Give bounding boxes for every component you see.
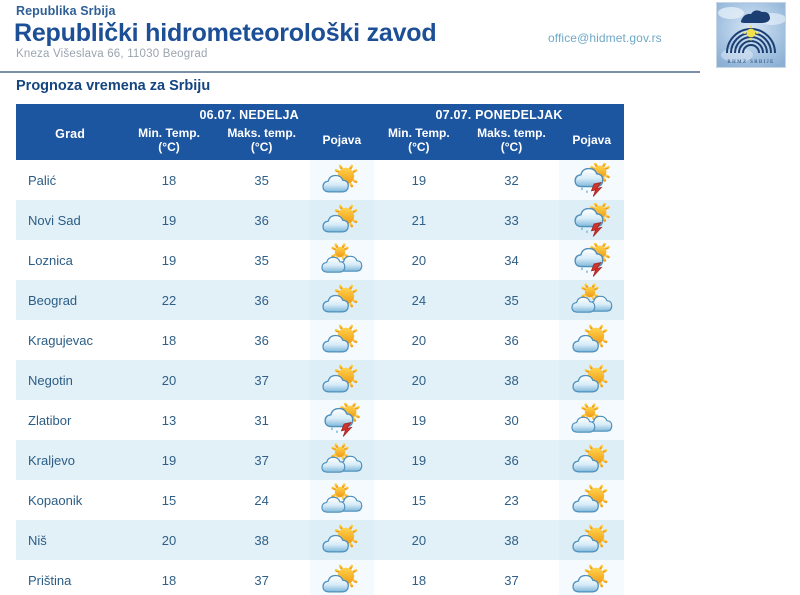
cell-max-temp-day1: 35	[214, 160, 310, 200]
cell-max-temp-day1: 31	[214, 400, 310, 440]
contact-email[interactable]: office@hidmet.gov.rs	[548, 31, 662, 45]
cell-phenomenon-day1	[310, 440, 375, 480]
label-max-temp-day2: Maks. temp.	[477, 126, 546, 140]
page-title: Prognoza vremena za Srbiju	[16, 78, 210, 94]
cell-min-temp-day2: 20	[374, 320, 464, 360]
cell-max-temp-day2: 38	[464, 360, 560, 400]
table-row: Kragujevac18362036	[16, 320, 624, 360]
cell-min-temp-day1: 18	[124, 160, 214, 200]
cell-phenomenon-day1	[310, 560, 375, 595]
cell-min-temp-day2: 18	[374, 560, 464, 595]
cell-phenomenon-day1	[310, 280, 375, 320]
cell-max-temp-day2: 32	[464, 160, 560, 200]
sun-cloud-icon	[570, 451, 614, 466]
organization-address: Kneza Višeslava 66, 11030 Beograd	[16, 48, 208, 60]
sun-cloud-icon	[320, 211, 364, 226]
column-header-min-day2: Min. Temp. (°C)	[374, 123, 464, 160]
cell-city: Novi Sad	[16, 200, 124, 240]
table-row: Priština18371837	[16, 560, 624, 595]
cell-min-temp-day2: 21	[374, 200, 464, 240]
cell-min-temp-day2: 20	[374, 520, 464, 560]
unit-celsius-max-day1: (°C)	[214, 140, 310, 154]
organization-country: Republika Srbija	[16, 4, 116, 18]
cell-city: Priština	[16, 560, 124, 595]
label-min-temp-day1: Min. Temp.	[138, 126, 200, 140]
sun-cloud-icon	[320, 371, 364, 386]
thunderstorm-icon	[570, 171, 614, 186]
cell-min-temp-day2: 19	[374, 160, 464, 200]
cell-min-temp-day1: 20	[124, 360, 214, 400]
cell-min-temp-day1: 19	[124, 200, 214, 240]
day-header-1: 06.07. NEDELJA	[124, 104, 374, 123]
table-row: Novi Sad19362133	[16, 200, 624, 240]
sun-cloud-icon	[320, 531, 364, 546]
cell-max-temp-day1: 24	[214, 480, 310, 520]
sun-cloud-icon	[320, 331, 364, 346]
cell-max-temp-day2: 23	[464, 480, 560, 520]
cell-phenomenon-day1	[310, 160, 375, 200]
cell-city: Zlatibor	[16, 400, 124, 440]
thunderstorm-icon	[570, 211, 614, 226]
cell-max-temp-day2: 36	[464, 320, 560, 360]
cell-min-temp-day2: 19	[374, 440, 464, 480]
day-header-2: 07.07. PONEDELJAK	[374, 104, 624, 123]
cell-city: Kopaonik	[16, 480, 124, 520]
cell-phenomenon-day2	[559, 520, 624, 560]
cell-max-temp-day2: 37	[464, 560, 560, 595]
label-max-temp-day1: Maks. temp.	[227, 126, 296, 140]
cell-phenomenon-day2	[559, 400, 624, 440]
cell-phenomenon-day2	[559, 440, 624, 480]
masthead: Republika Srbija Republički hidrometeoro…	[0, 0, 800, 74]
cell-min-temp-day1: 19	[124, 440, 214, 480]
mostly-cloudy-icon	[320, 251, 364, 266]
cell-phenomenon-day2	[559, 320, 624, 360]
cell-min-temp-day1: 15	[124, 480, 214, 520]
cell-max-temp-day2: 33	[464, 200, 560, 240]
unit-celsius-min-day1: (°C)	[124, 140, 214, 154]
cell-min-temp-day2: 15	[374, 480, 464, 520]
cell-city: Kraljevo	[16, 440, 124, 480]
cell-phenomenon-day1	[310, 400, 375, 440]
cell-min-temp-day1: 20	[124, 520, 214, 560]
svg-text:RHMZ SRBIJE: RHMZ SRBIJE	[727, 60, 774, 65]
cell-max-temp-day1: 36	[214, 320, 310, 360]
cell-min-temp-day2: 19	[374, 400, 464, 440]
organization-title: Republički hidrometeorološki zavod	[14, 19, 436, 48]
thunderstorm-icon	[570, 251, 614, 266]
mostly-cloudy-icon	[320, 451, 364, 466]
cell-city: Kragujevac	[16, 320, 124, 360]
unit-celsius-min-day2: (°C)	[374, 140, 464, 154]
cell-phenomenon-day1	[310, 240, 375, 280]
table-row: Kraljevo19371936	[16, 440, 624, 480]
cell-min-temp-day1: 18	[124, 560, 214, 595]
cell-max-temp-day1: 36	[214, 280, 310, 320]
table-row: Loznica19352034	[16, 240, 624, 280]
cell-phenomenon-day2	[559, 480, 624, 520]
cell-max-temp-day1: 37	[214, 560, 310, 595]
cell-min-temp-day2: 20	[374, 360, 464, 400]
forecast-table: Grad 06.07. NEDELJA 07.07. PONEDELJAK Mi…	[16, 104, 624, 595]
cell-max-temp-day2: 30	[464, 400, 560, 440]
cell-max-temp-day1: 37	[214, 360, 310, 400]
cell-phenomenon-day2	[559, 560, 624, 595]
cell-max-temp-day1: 35	[214, 240, 310, 280]
cell-phenomenon-day2	[559, 160, 624, 200]
cell-min-temp-day2: 24	[374, 280, 464, 320]
label-min-temp-day2: Min. Temp.	[388, 126, 450, 140]
cell-max-temp-day2: 35	[464, 280, 560, 320]
cell-min-temp-day1: 18	[124, 320, 214, 360]
unit-celsius-max-day2: (°C)	[464, 140, 560, 154]
sun-cloud-icon	[570, 331, 614, 346]
cell-phenomenon-day1	[310, 200, 375, 240]
table-row: Beograd22362435	[16, 280, 624, 320]
table-row: Niš20382038	[16, 520, 624, 560]
sun-cloud-icon	[320, 571, 364, 586]
cell-city: Niš	[16, 520, 124, 560]
column-header-city: Grad	[16, 104, 124, 160]
forecast-page: Republika Srbija Republički hidrometeoro…	[0, 0, 800, 595]
cell-min-temp-day2: 20	[374, 240, 464, 280]
sun-cloud-icon	[570, 531, 614, 546]
cell-phenomenon-day2	[559, 360, 624, 400]
column-header-max-day1: Maks. temp. (°C)	[214, 123, 310, 160]
cell-min-temp-day1: 13	[124, 400, 214, 440]
cell-max-temp-day1: 38	[214, 520, 310, 560]
cell-phenomenon-day1	[310, 320, 375, 360]
cell-min-temp-day1: 22	[124, 280, 214, 320]
cell-city: Palić	[16, 160, 124, 200]
mostly-cloudy-icon	[320, 491, 364, 506]
sun-cloud-icon	[320, 171, 364, 186]
table-body: Palić18351932Novi Sad19362133Loznica1935…	[16, 160, 624, 595]
mostly-cloudy-icon	[570, 291, 614, 306]
cell-city: Loznica	[16, 240, 124, 280]
cell-max-temp-day1: 36	[214, 200, 310, 240]
table-row: Negotin20372038	[16, 360, 624, 400]
cell-max-temp-day1: 37	[214, 440, 310, 480]
table-head: Grad 06.07. NEDELJA 07.07. PONEDELJAK Mi…	[16, 104, 624, 160]
table-row: Zlatibor13311930	[16, 400, 624, 440]
cell-phenomenon-day1	[310, 360, 375, 400]
cell-city: Beograd	[16, 280, 124, 320]
forecast-table-wrapper: Grad 06.07. NEDELJA 07.07. PONEDELJAK Mi…	[16, 104, 624, 595]
table-row: Palić18351932	[16, 160, 624, 200]
day-header-row: Grad 06.07. NEDELJA 07.07. PONEDELJAK	[16, 104, 624, 123]
cell-min-temp-day1: 19	[124, 240, 214, 280]
sun-cloud-icon	[570, 371, 614, 386]
masthead-divider	[0, 71, 700, 73]
cell-phenomenon-day2	[559, 200, 624, 240]
column-header-phenomenon-day1: Pojava	[310, 123, 375, 160]
cell-phenomenon-day1	[310, 480, 375, 520]
cell-max-temp-day2: 36	[464, 440, 560, 480]
cell-phenomenon-day1	[310, 520, 375, 560]
rhmz-seal-logo: RHMZ SRBIJE	[716, 2, 786, 68]
cell-max-temp-day2: 38	[464, 520, 560, 560]
cell-max-temp-day2: 34	[464, 240, 560, 280]
thunderstorm-icon	[320, 411, 364, 426]
column-header-min-day1: Min. Temp. (°C)	[124, 123, 214, 160]
cell-city: Negotin	[16, 360, 124, 400]
sun-cloud-icon	[570, 571, 614, 586]
cell-phenomenon-day2	[559, 240, 624, 280]
column-header-phenomenon-day2: Pojava	[559, 123, 624, 160]
table-row: Kopaonik15241523	[16, 480, 624, 520]
sun-cloud-icon	[320, 291, 364, 306]
cell-phenomenon-day2	[559, 280, 624, 320]
sun-cloud-icon	[570, 491, 614, 506]
mostly-cloudy-icon	[570, 411, 614, 426]
column-header-max-day2: Maks. temp. (°C)	[464, 123, 560, 160]
